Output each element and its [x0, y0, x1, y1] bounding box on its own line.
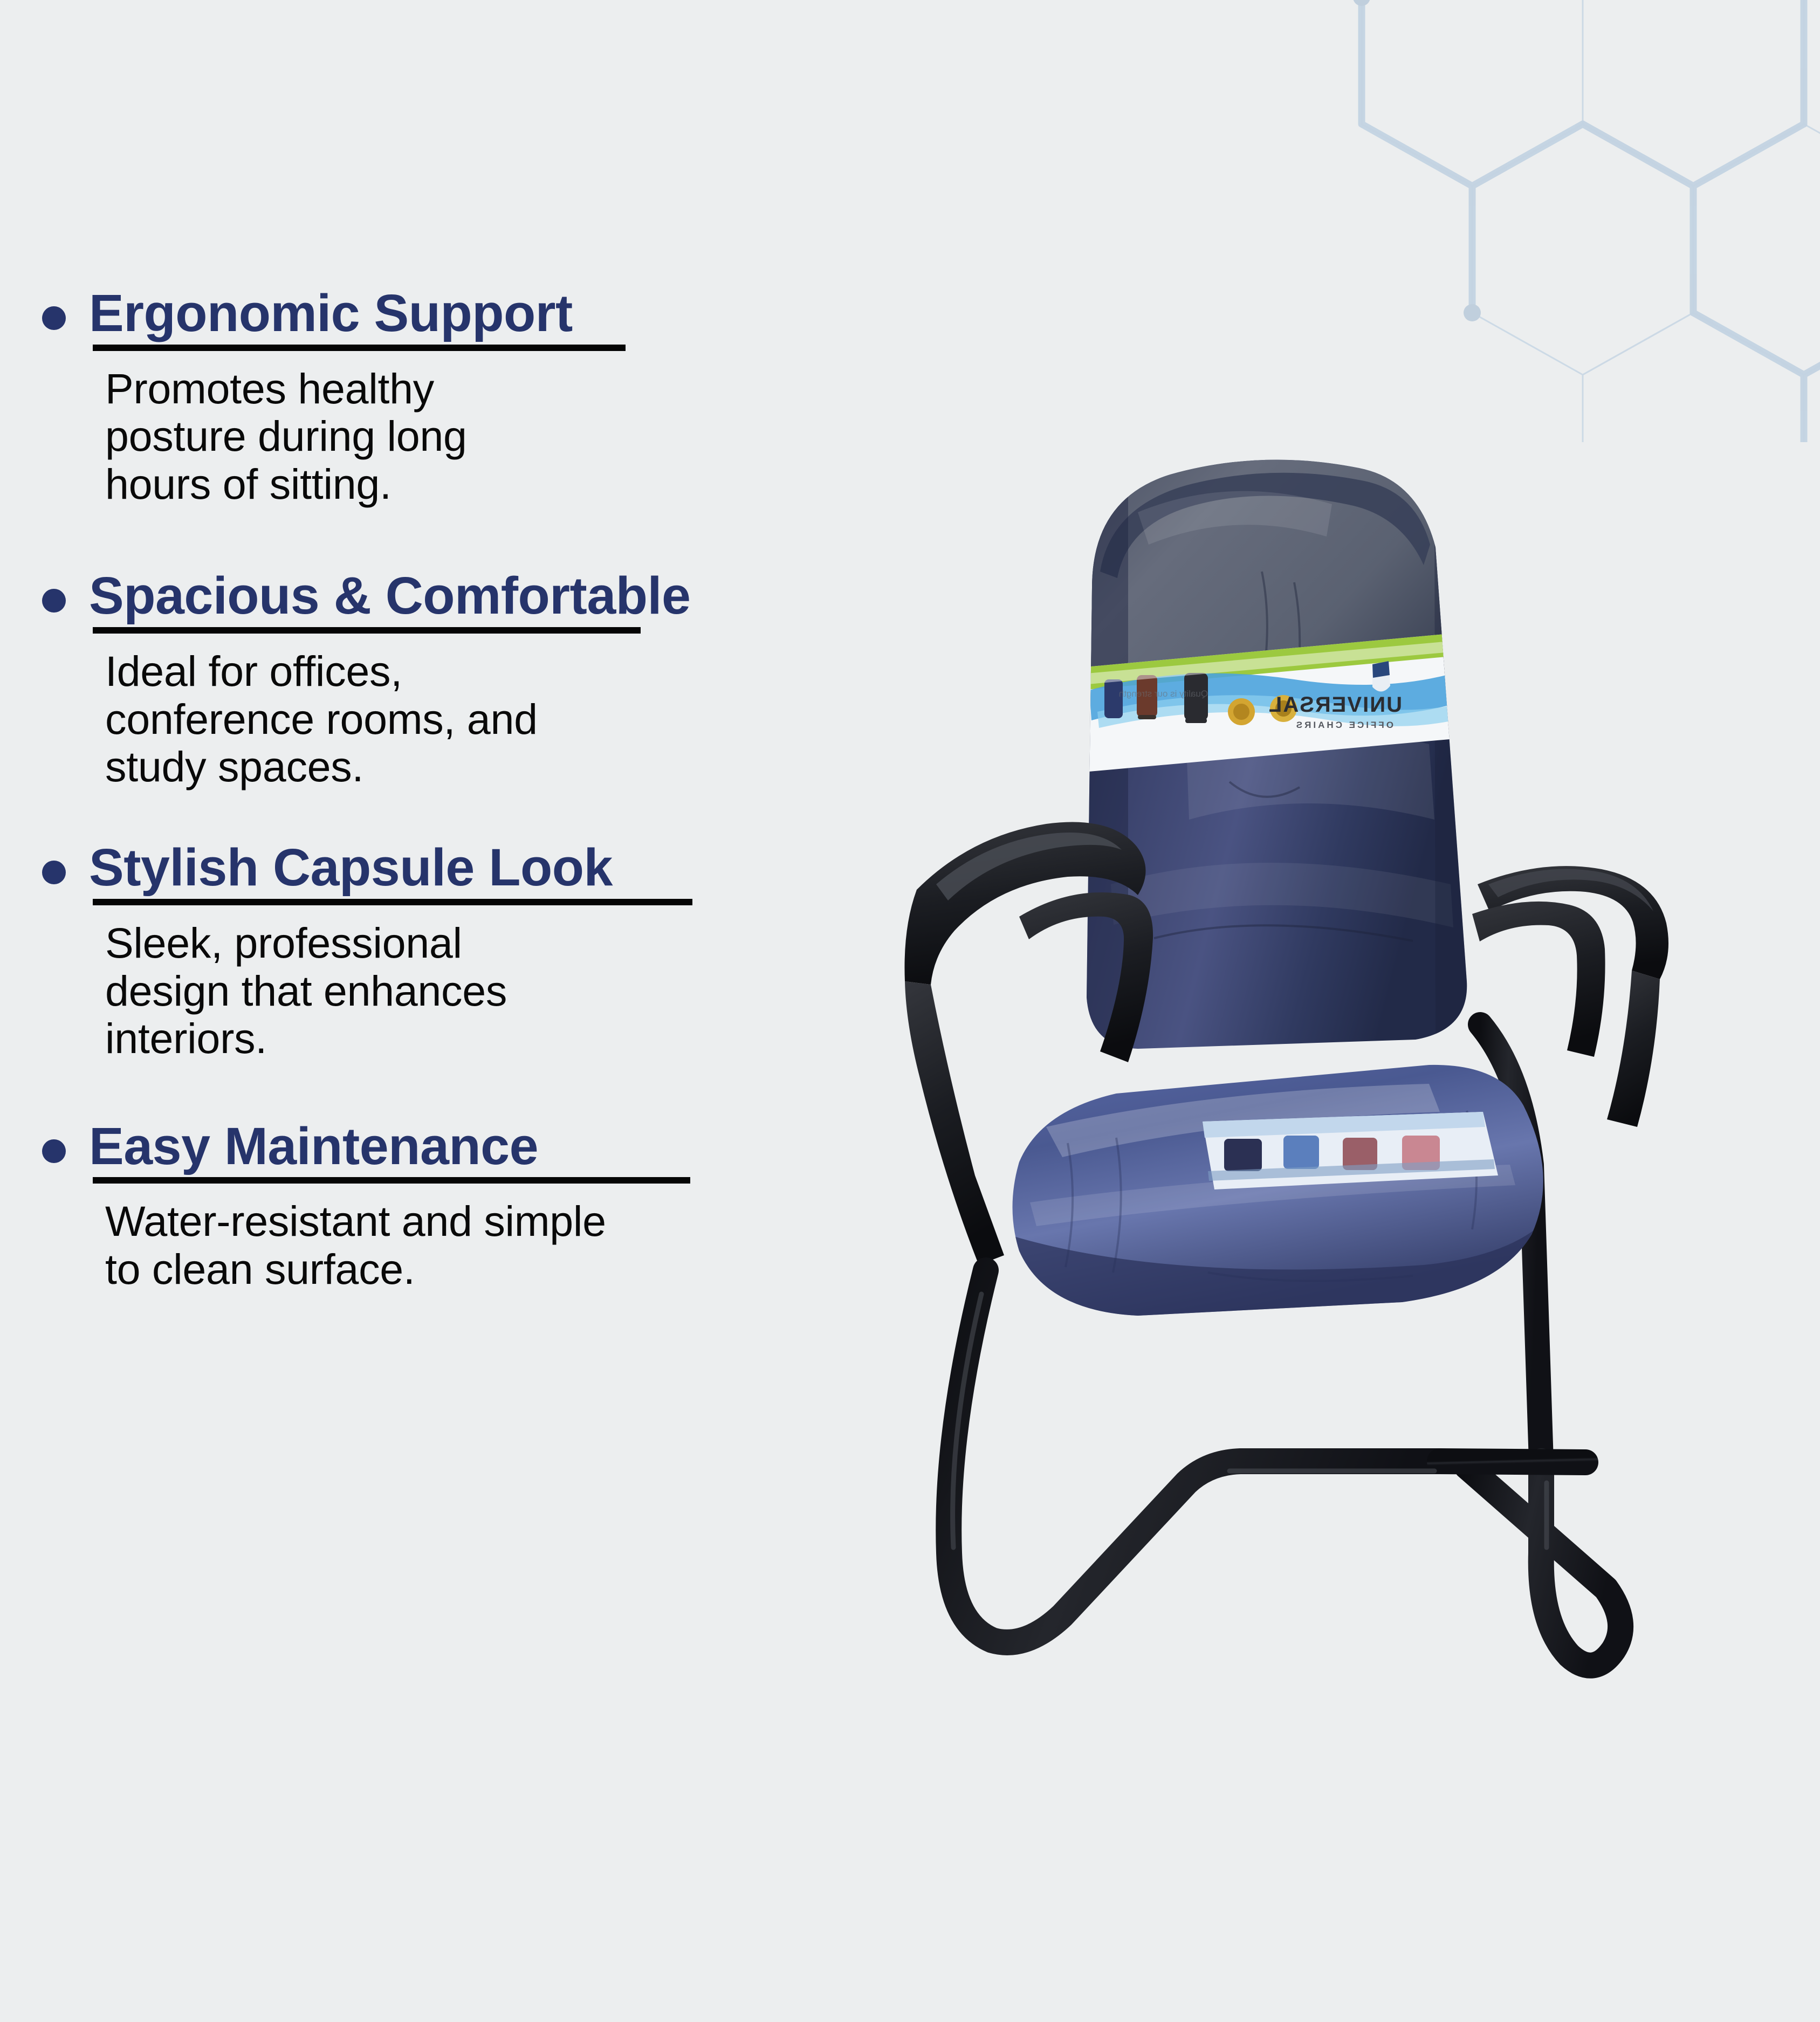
chair-backrest: UNIVERSAL OFFICE CHAIRS Quality is our s… [1079, 442, 1591, 1049]
feature-underline [93, 345, 626, 351]
svg-text:OFFICE CHAIRS: OFFICE CHAIRS [1294, 720, 1393, 730]
product-image: UNIVERSAL OFFICE CHAIRS Quality is our s… [884, 410, 1747, 1812]
feature-underline [93, 899, 692, 905]
feature-description: Sleek, professional design that enhances… [105, 919, 809, 1062]
svg-text:Sit in style under your need: Sit in style under your need [1448, 672, 1553, 682]
feature-item: Spacious & Comfortable Ideal for offices… [0, 568, 809, 790]
feature-item: Ergonomic Support Promotes healthy postu… [0, 286, 809, 508]
feature-heading-row: Spacious & Comfortable [0, 568, 809, 624]
chair-seat [1008, 1065, 1553, 1326]
office-chair-illustration: UNIVERSAL OFFICE CHAIRS Quality is our s… [884, 410, 1747, 1812]
feature-underline [93, 627, 641, 634]
feature-description: Promotes healthy posture during long hou… [105, 365, 809, 508]
hexagon-vertex-dots [1353, 0, 1820, 442]
bullet-point-icon [42, 1139, 66, 1163]
feature-title: Stylish Capsule Look [89, 840, 613, 896]
feature-heading-row: Easy Maintenance [0, 1119, 809, 1174]
feature-heading-row: Stylish Capsule Look [0, 840, 809, 896]
feature-item: Stylish Capsule Look Sleek, professional… [0, 840, 809, 1062]
bullet-point-icon [42, 306, 66, 330]
feature-title: Easy Maintenance [89, 1119, 538, 1174]
feature-description: Ideal for offices, conference rooms, and… [105, 648, 809, 790]
hexagon-lattice-decoration [1227, 0, 1820, 442]
feature-description: Water-resistant and simple to clean surf… [105, 1198, 809, 1293]
svg-text:UNIVERSAL: UNIVERSAL [1268, 693, 1402, 717]
svg-text:Quality is our strength: Quality is our strength [1119, 689, 1208, 699]
feature-title: Ergonomic Support [89, 286, 573, 341]
bullet-point-icon [42, 589, 66, 613]
feature-title: Spacious & Comfortable [89, 568, 690, 624]
brand-shield-icon [1372, 661, 1390, 692]
feature-item: Easy Maintenance Water-resistant and sim… [0, 1119, 809, 1294]
feature-list: Ergonomic Support Promotes healthy postu… [0, 286, 809, 1293]
feature-underline [93, 1177, 690, 1184]
feature-heading-row: Ergonomic Support [0, 286, 809, 341]
chair-base-frame [949, 1270, 1620, 1666]
bullet-point-icon [42, 861, 66, 884]
